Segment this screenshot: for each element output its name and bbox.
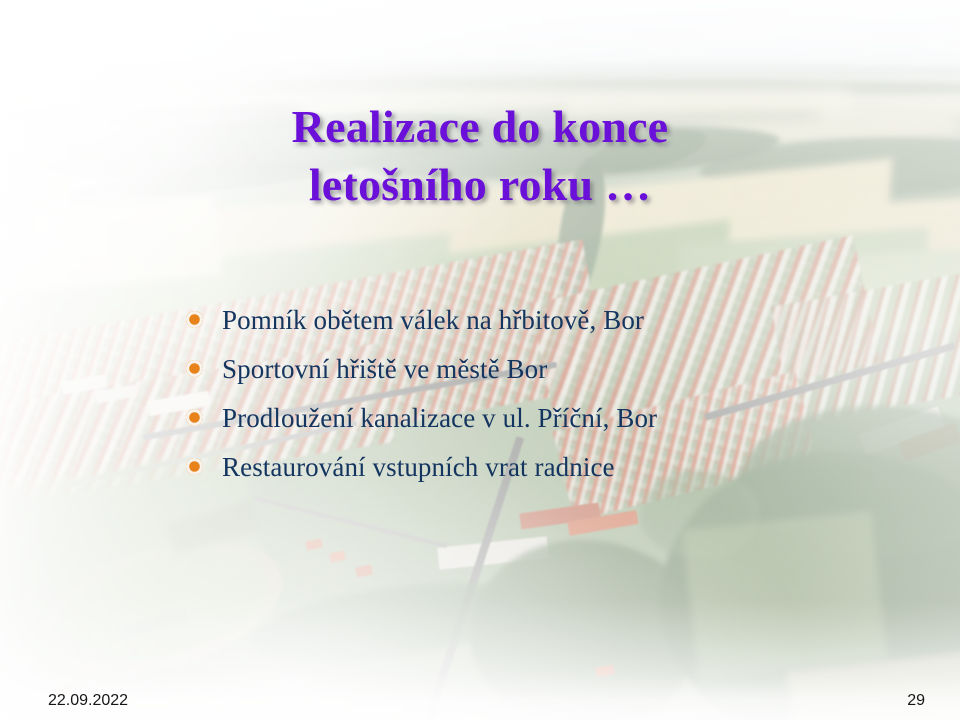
list-item[interactable]: Restaurování vstupních vrat radnice [186,450,886,499]
list-item[interactable]: Prodloužení kanalizace v ul. Příční, Bor [186,401,886,450]
list-item-label: Restaurování vstupních vrat radnice [222,450,886,484]
footer-date: 22.09.2022 [48,691,128,711]
target-bullet-icon [186,311,203,328]
target-bullet-icon [186,360,203,377]
slide-title: Realizace do konce letošního roku … [60,98,900,214]
list-item-label: Prodloužení kanalizace v ul. Příční, Bor [222,401,886,435]
presentation-slide: Realizace do konce letošního roku … Pomn… [0,0,960,720]
target-bullet-icon [186,409,203,426]
bullet-list: Pomník obětem válek na hřbitově, Bor Spo… [186,303,886,499]
list-item-label: Sportovní hřiště ve městě Bor [222,352,886,386]
slide-content: Realizace do konce letošního roku … Pomn… [0,0,960,720]
footer-page-number: 29 [907,691,925,711]
list-item[interactable]: Pomník obětem válek na hřbitově, Bor [186,303,886,352]
target-bullet-icon [186,458,203,475]
list-item-label: Pomník obětem válek na hřbitově, Bor [222,303,886,337]
list-item[interactable]: Sportovní hřiště ve městě Bor [186,352,886,401]
